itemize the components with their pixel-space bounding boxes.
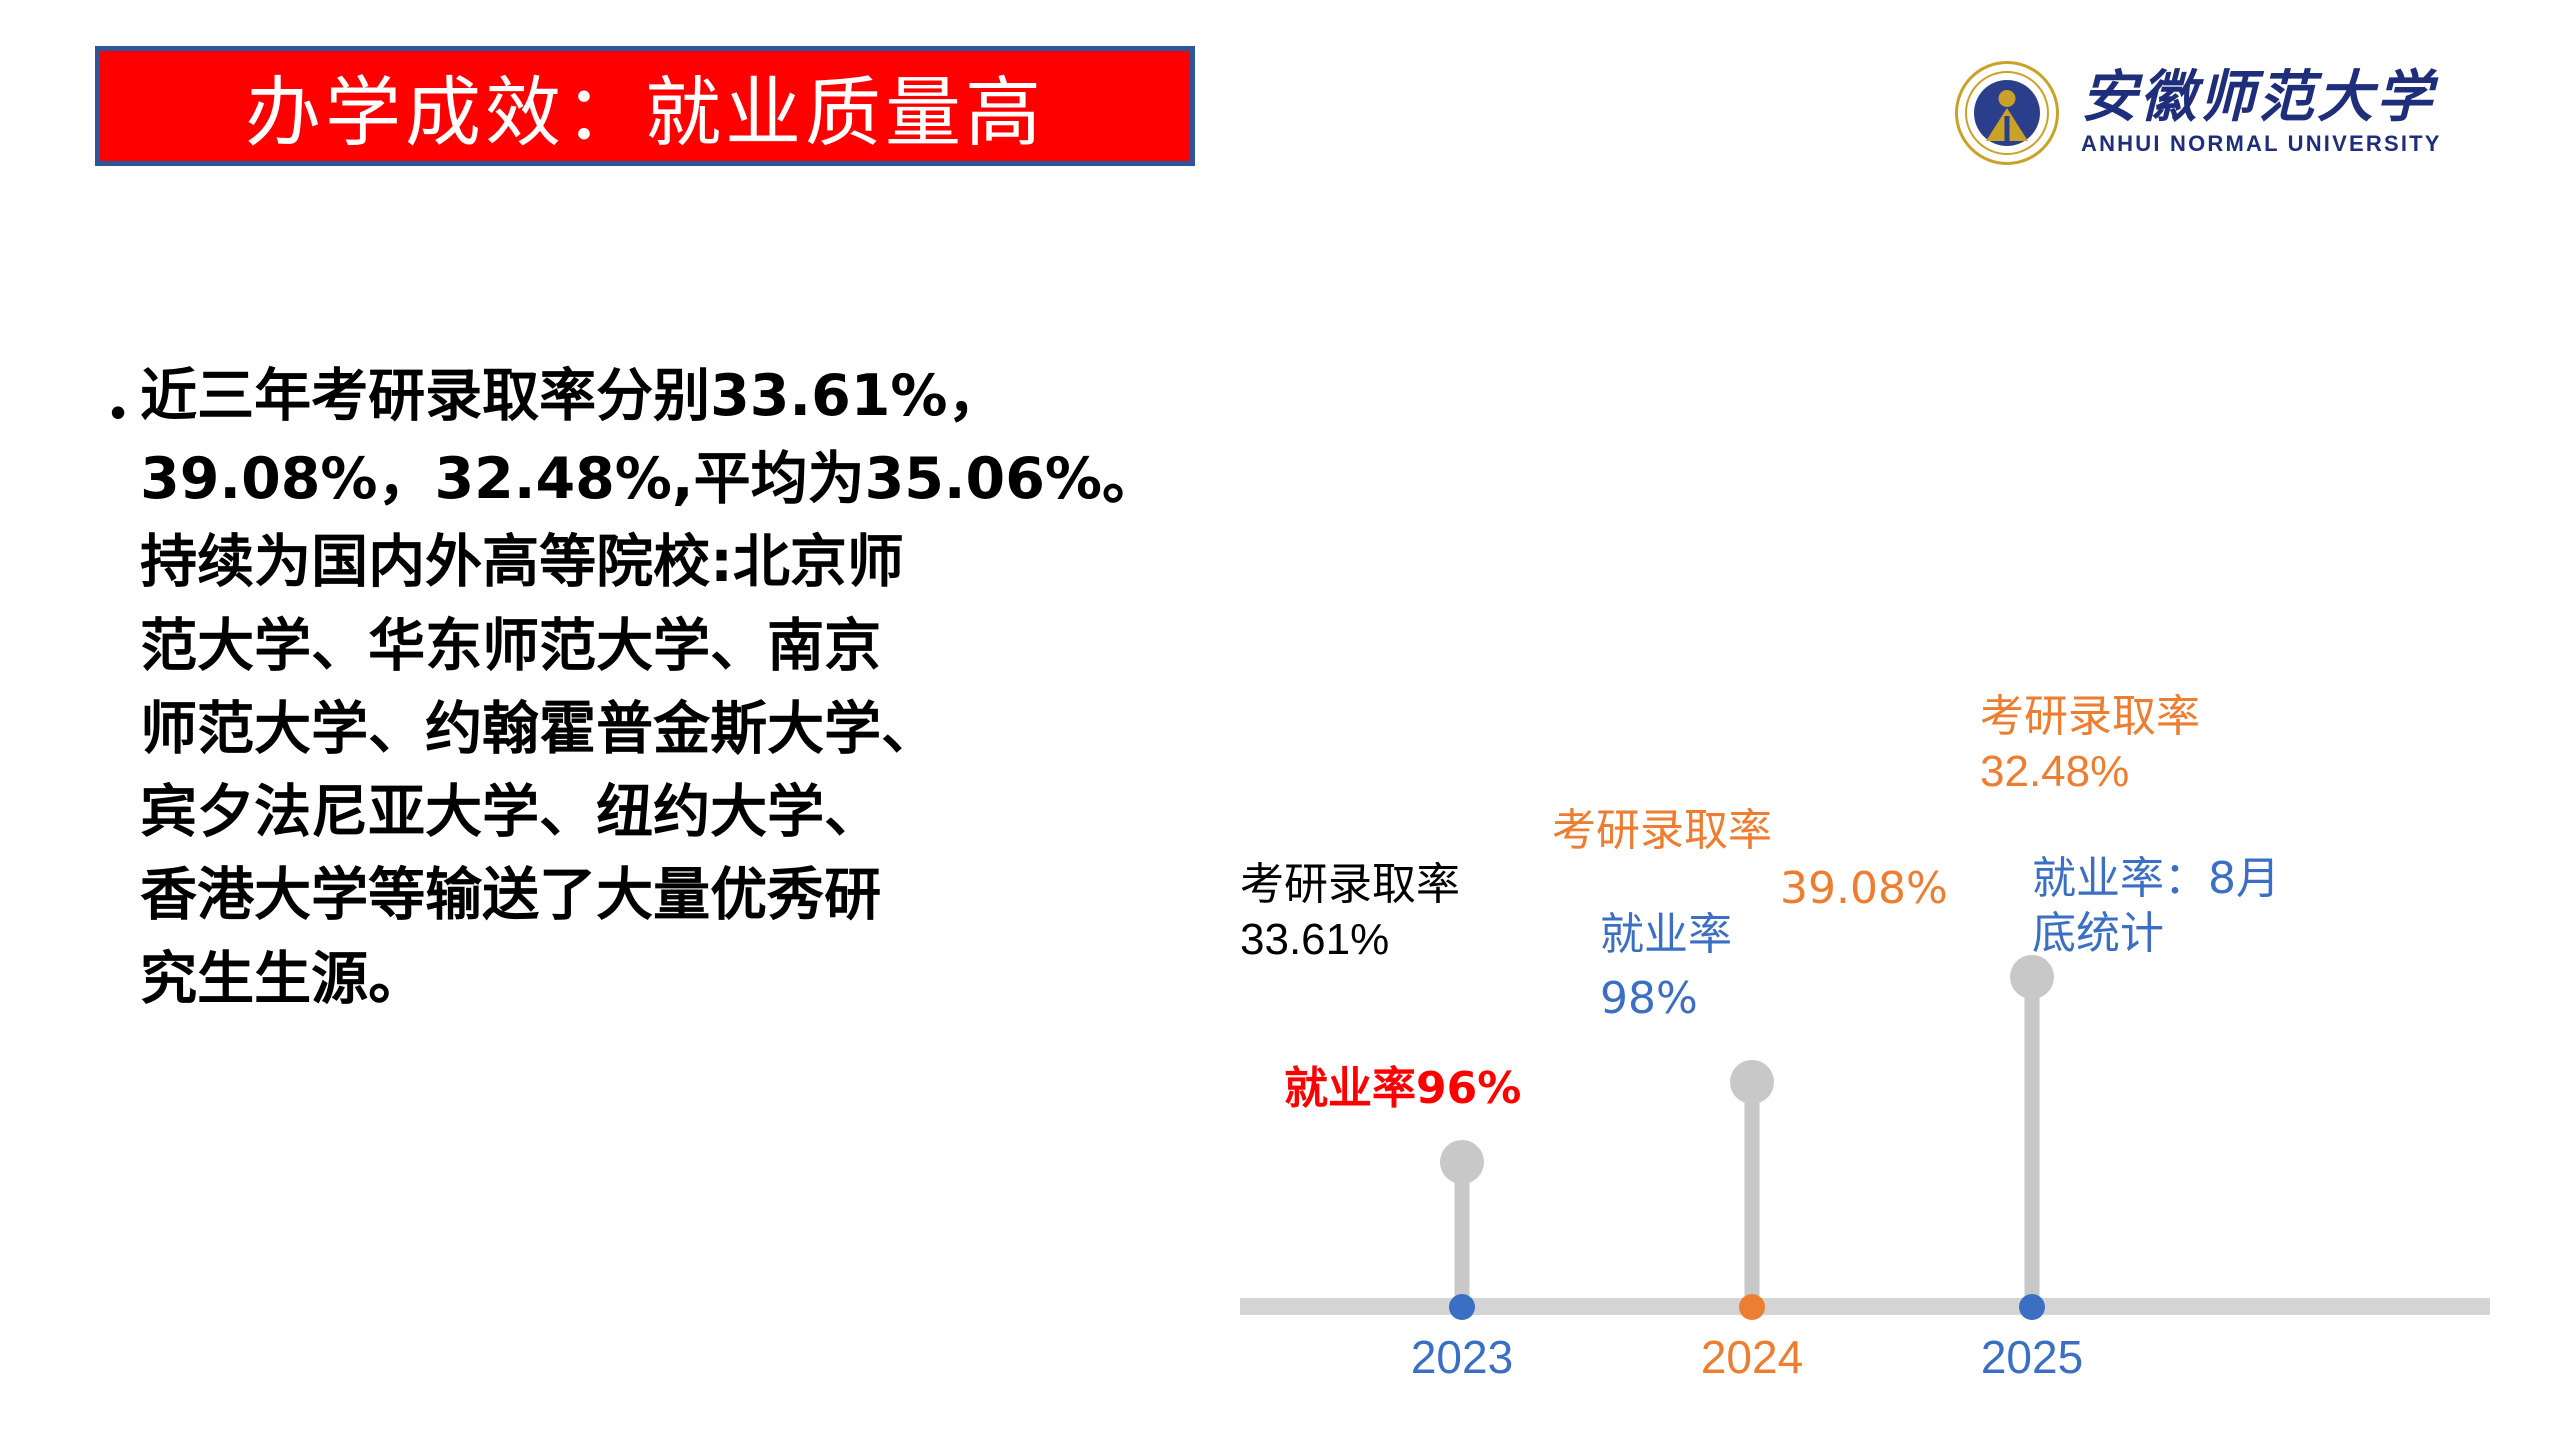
bullet-list-item: • 近三年考研录取率分别33.61%， 39.08%，32.48%,平均为35.… bbox=[110, 355, 1190, 1021]
emblem-figure-slot bbox=[2005, 116, 2010, 142]
pin-stem bbox=[1745, 1082, 1760, 1298]
callout-2025-kaoyan-value: 32.48% bbox=[1980, 747, 2129, 796]
body-line: 范大学、华东师范大学、南京 bbox=[140, 605, 1190, 688]
callout-2023-jiuye: 就业率96% bbox=[1284, 1062, 1521, 1117]
year-label-2025: 2025 bbox=[1981, 1330, 2083, 1384]
body-text-block: • 近三年考研录取率分别33.61%， 39.08%，32.48%,平均为35.… bbox=[110, 355, 1190, 1021]
body-line: 究生生源。 bbox=[140, 938, 1190, 1021]
timeline-pin-2025 bbox=[2010, 955, 2054, 1298]
callout-2024-jiuye-value: 98% bbox=[1600, 972, 1698, 1027]
pin-stem bbox=[2025, 977, 2040, 1298]
callout-2023-kaoyan-value: 33.61% bbox=[1240, 915, 1389, 964]
timeline-chart: 考研录取率 33.61% 就业率96% 2023 考研录取率 39.08% 就业… bbox=[1240, 700, 2490, 1340]
callout-2024-jiuye-label: 就业率 bbox=[1600, 908, 1732, 963]
logo-name-en: ANHUI NORMAL UNIVERSITY bbox=[2081, 131, 2442, 157]
axis-dot-2025 bbox=[2019, 1294, 2045, 1320]
axis-dot-2023 bbox=[1449, 1294, 1475, 1320]
callout-2025-kaoyan: 考研录取率 32.48% bbox=[1980, 690, 2200, 799]
year-label-2024: 2024 bbox=[1701, 1330, 1803, 1384]
axis-dot-2024 bbox=[1739, 1294, 1765, 1320]
callout-2024-kaoyan-value: 39.08% bbox=[1780, 862, 1948, 917]
body-line: 持续为国内外高等院校:北京师 bbox=[140, 521, 1190, 604]
callout-2023-kaoyan: 考研录取率 33.61% bbox=[1240, 858, 1460, 967]
body-line: 师范大学、约翰霍普金斯大学、 bbox=[140, 688, 1190, 771]
callout-2025-jiuye-line1: 就业率：8月 bbox=[2032, 853, 2280, 904]
pin-stem bbox=[1455, 1162, 1470, 1298]
bullet-point-icon: • bbox=[110, 389, 126, 435]
page-title: 办学成效：就业质量高 bbox=[245, 51, 1045, 161]
slide-title-banner: 办学成效：就业质量高 bbox=[95, 46, 1195, 166]
logo-name-cn: 安徽师范大学 bbox=[2081, 68, 2442, 127]
callout-2025-jiuye-line2: 底统计 bbox=[2032, 908, 2164, 959]
university-emblem-icon bbox=[1955, 61, 2059, 165]
timeline-pin-2023 bbox=[1440, 1140, 1484, 1298]
callout-2024-kaoyan: 考研录取率 bbox=[1552, 804, 1772, 859]
emblem-figure-head bbox=[1999, 90, 2016, 107]
timeline-axis bbox=[1240, 1298, 2490, 1315]
callout-2024-kaoyan-label: 考研录取率 bbox=[1552, 805, 1772, 856]
body-line: 39.08%，32.48%,平均为35.06%。 bbox=[140, 438, 1190, 521]
body-line: 香港大学等输送了大量优秀研 bbox=[140, 854, 1190, 937]
callout-2025-jiuye: 就业率：8月 底统计 bbox=[2032, 852, 2280, 961]
callout-2025-kaoyan-label: 考研录取率 bbox=[1980, 691, 2200, 742]
timeline-pin-2024 bbox=[1730, 1060, 1774, 1298]
university-logo: 安徽师范大学 ANHUI NORMAL UNIVERSITY bbox=[1955, 55, 2475, 170]
body-paragraph: 近三年考研录取率分别33.61%， 39.08%，32.48%,平均为35.06… bbox=[140, 355, 1190, 1021]
logo-wordmark: 安徽师范大学 ANHUI NORMAL UNIVERSITY bbox=[2081, 68, 2442, 158]
body-line: 宾夕法尼亚大学、纽约大学、 bbox=[140, 771, 1190, 854]
callout-2023-kaoyan-label: 考研录取率 bbox=[1240, 859, 1460, 910]
year-label-2023: 2023 bbox=[1411, 1330, 1513, 1384]
body-line: 近三年考研录取率分别33.61%， bbox=[140, 355, 1190, 438]
